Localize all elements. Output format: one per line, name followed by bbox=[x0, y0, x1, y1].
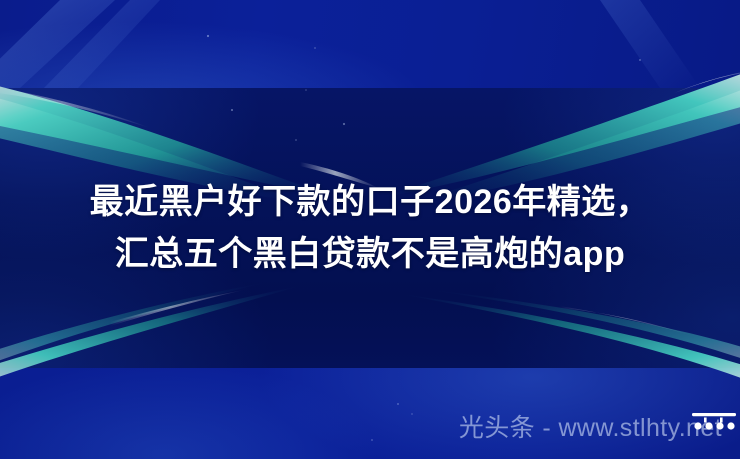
headline-line-1: 最近黑户好下款的口子2026年精选， bbox=[0, 176, 740, 228]
watermark-text: 光头条 - www.stlhty.net bbox=[459, 408, 722, 444]
watermark: 光头条 - www.stlhty.net bbox=[459, 411, 722, 441]
headline-text: 最近黑户好下款的口子2026年精选， 汇总五个黑白贷款不是高炮的app bbox=[0, 176, 740, 280]
headline-line-2: 汇总五个黑白贷款不是高炮的app bbox=[0, 228, 740, 280]
promo-banner-image: 最近黑户好下款的口子2026年精选， 汇总五个黑白贷款不是高炮的app 光头条 … bbox=[0, 0, 740, 459]
background-band-top bbox=[0, 0, 740, 88]
